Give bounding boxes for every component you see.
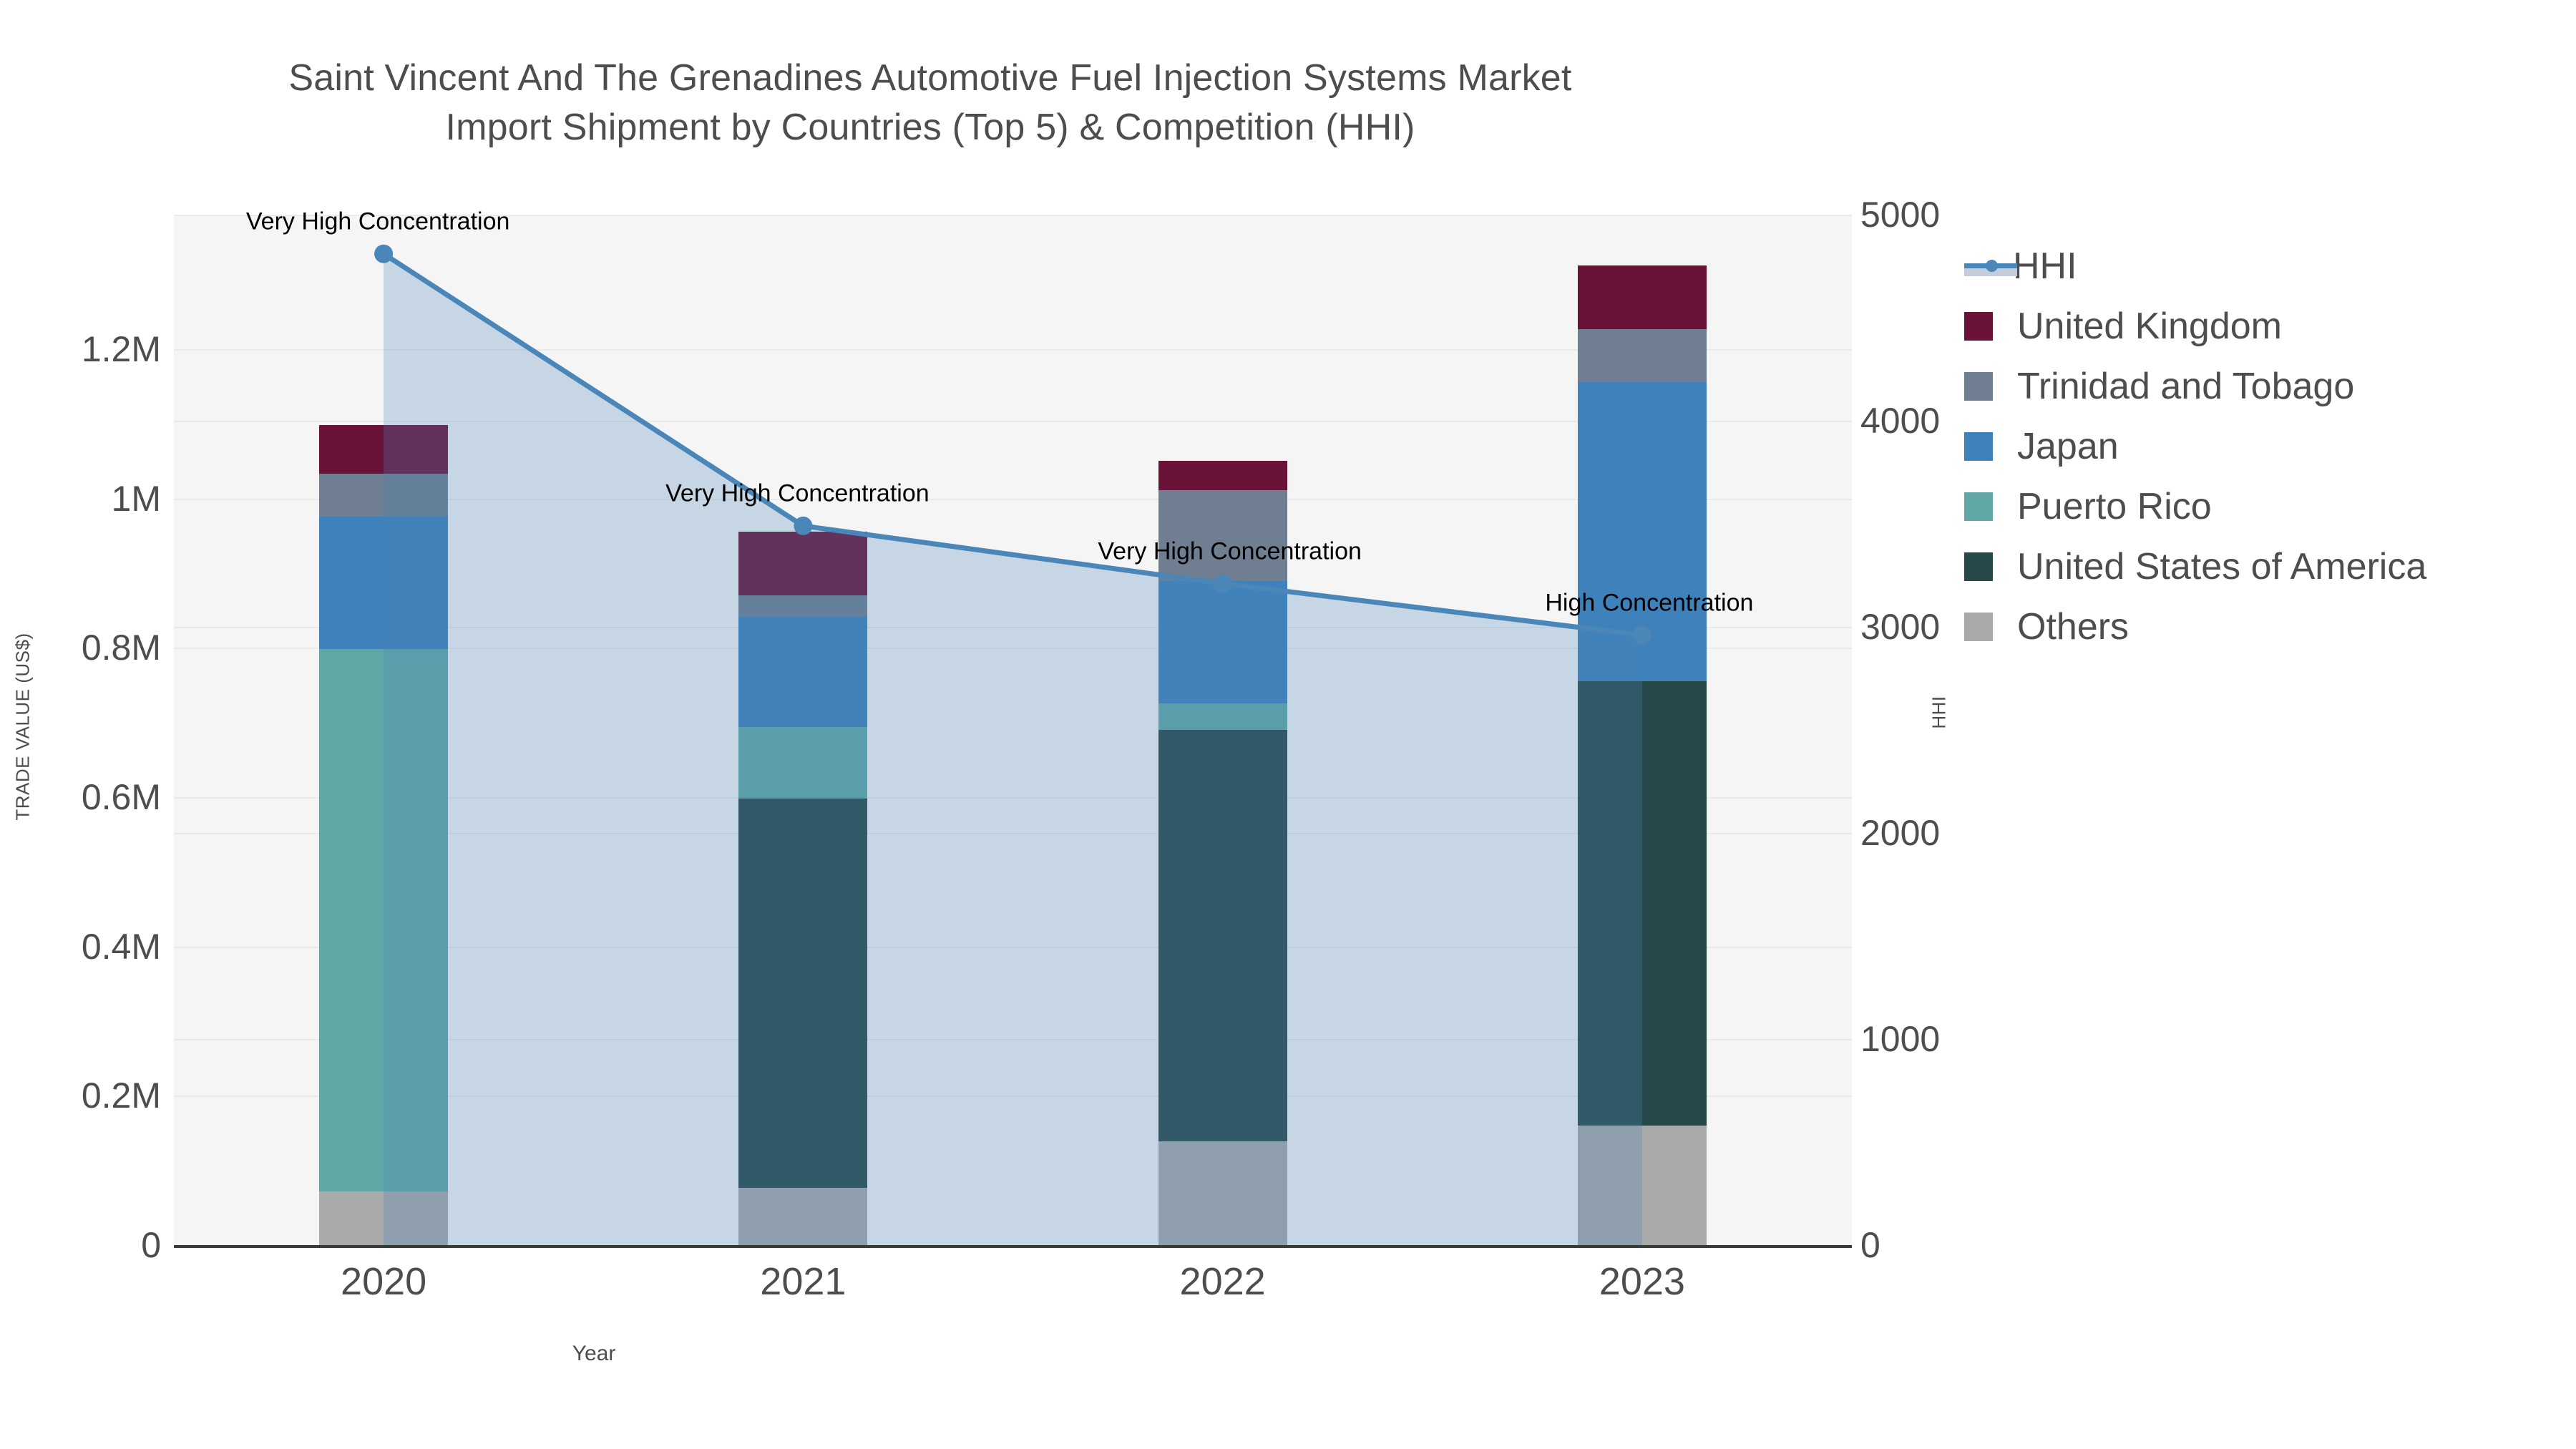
chart-root: Saint Vincent And The Grenadines Automot… xyxy=(0,0,2576,1449)
square-swatch-icon xyxy=(1964,613,1993,641)
legend-item[interactable]: United Kingdom xyxy=(1964,296,2565,356)
hhi-annotation: Very High Concentration xyxy=(1098,537,1362,565)
legend-item[interactable]: United States of America xyxy=(1964,537,2565,597)
legend-item[interactable]: Others xyxy=(1964,597,2565,657)
x-axis-line xyxy=(174,1245,1852,1248)
hhi-data-point[interactable] xyxy=(374,245,393,263)
y-axis-right: 010002000300040005000 xyxy=(1860,0,2147,1449)
square-swatch-icon xyxy=(1964,312,1993,341)
y-axis-left-label: TRADE VALUE (US$) xyxy=(12,620,34,834)
hhi-annotation: Very High Concentration xyxy=(665,479,930,507)
square-swatch-icon xyxy=(1964,432,1993,461)
y-axis-left-tick: 0.2M xyxy=(82,1075,161,1116)
square-swatch-icon xyxy=(1964,492,1993,521)
legend-item-label: United Kingdom xyxy=(2017,308,2282,345)
y-axis-left-tick: 1.2M xyxy=(82,328,161,370)
y-axis-left-tick: 1M xyxy=(112,478,161,519)
y-axis-left-tick: 0 xyxy=(141,1224,161,1266)
hhi-data-point[interactable] xyxy=(1633,626,1652,645)
y-axis-right-label: HHI xyxy=(1928,641,1951,784)
x-axis-tick: 2020 xyxy=(341,1259,426,1304)
y-axis-left-tick: 0.8M xyxy=(82,627,161,668)
chart-title-line-1: Saint Vincent And The Grenadines Automot… xyxy=(0,54,1860,103)
chart-legend: HHIUnited KingdomTrinidad and TobagoJapa… xyxy=(1964,236,2565,657)
hhi-data-point[interactable] xyxy=(1214,575,1232,593)
legend-item-label: Others xyxy=(2017,608,2129,645)
legend-item-label: Trinidad and Tobago xyxy=(2017,368,2354,405)
legend-item[interactable]: Puerto Rico xyxy=(1964,477,2565,537)
y-axis-right-tick: 2000 xyxy=(1860,812,1940,854)
x-axis-label: Year xyxy=(0,1342,1188,1366)
square-swatch-icon xyxy=(1964,372,1993,401)
hhi-annotation: Very High Concentration xyxy=(246,208,510,235)
legend-item-label: Japan xyxy=(2017,428,2119,465)
hhi-data-point[interactable] xyxy=(794,517,812,535)
hhi-annotation: High Concentration xyxy=(1545,589,1753,617)
hhi-line-path xyxy=(384,254,1642,635)
x-axis-tick: 2022 xyxy=(1180,1259,1266,1304)
legend-item[interactable]: Japan xyxy=(1964,416,2565,477)
chart-title: Saint Vincent And The Grenadines Automot… xyxy=(0,54,1860,152)
y-axis-left-tick: 0.6M xyxy=(82,776,161,818)
legend-item-label: Puerto Rico xyxy=(2017,488,2212,525)
square-swatch-icon xyxy=(1964,552,1993,581)
x-axis-tick: 2023 xyxy=(1599,1259,1685,1304)
chart-title-line-2: Import Shipment by Countries (Top 5) & C… xyxy=(0,103,1860,152)
y-axis-right-tick: 0 xyxy=(1860,1224,1880,1266)
legend-item[interactable]: Trinidad and Tobago xyxy=(1964,356,2565,416)
x-axis-tick: 2021 xyxy=(760,1259,846,1304)
y-axis-left-tick: 0.4M xyxy=(82,926,161,967)
legend-item-label: United States of America xyxy=(2017,548,2426,585)
y-axis-right-tick: 4000 xyxy=(1860,400,1940,441)
y-axis-right-tick: 1000 xyxy=(1860,1018,1940,1060)
legend-item[interactable]: HHI xyxy=(1964,236,2565,296)
y-axis-right-tick: 5000 xyxy=(1860,194,1940,235)
legend-item-label: HHI xyxy=(2013,248,2077,285)
line-marker-icon xyxy=(1964,252,2017,280)
hhi-line xyxy=(174,215,1852,1245)
